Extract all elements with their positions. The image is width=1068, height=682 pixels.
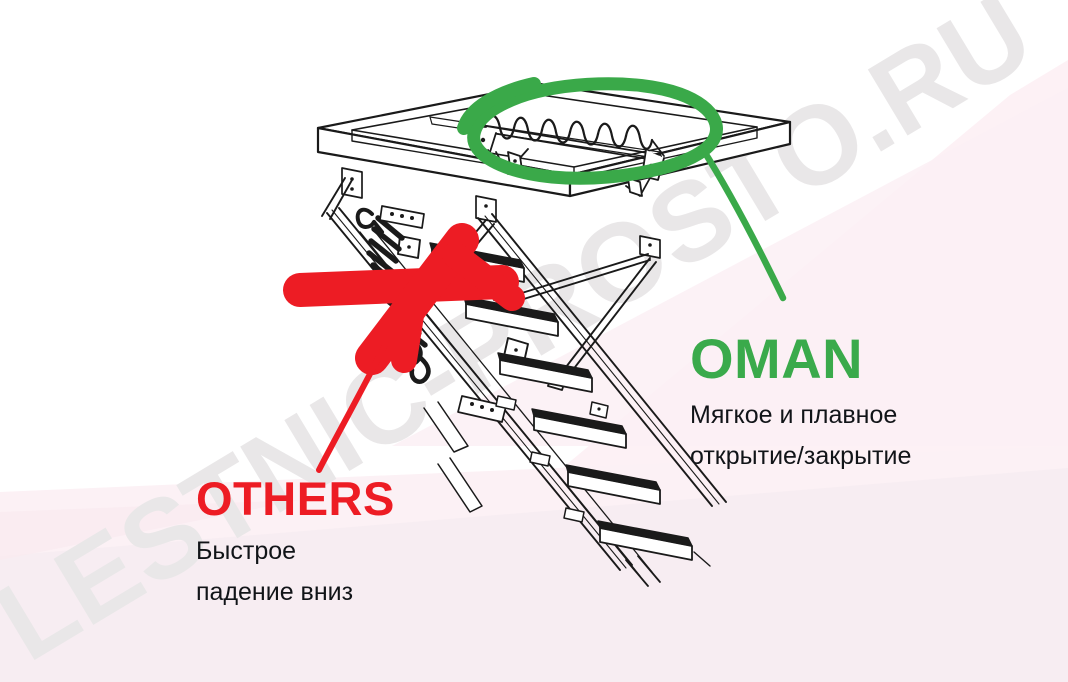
others-caption-line-1: Быстрое (196, 531, 395, 572)
others-caption: Быстрое падение вниз (196, 531, 395, 612)
infographic-canvas: LESTNIC-PROSTO.RU (0, 0, 1068, 682)
oman-caption-line-1: Мягкое и плавное (690, 395, 911, 436)
oman-title: OMAN (690, 331, 911, 387)
oman-label-block: OMAN Мягкое и плавное открытие/закрытие (690, 331, 911, 476)
oman-caption-line-2: открытие/закрытие (690, 436, 911, 477)
label-layer: OMAN Мягкое и плавное открытие/закрытие … (0, 0, 1068, 682)
others-title: OTHERS (196, 475, 395, 522)
oman-caption: Мягкое и плавное открытие/закрытие (690, 395, 911, 476)
others-caption-line-2: падение вниз (196, 572, 395, 613)
others-label-block: OTHERS Быстрое падение вниз (196, 475, 395, 612)
